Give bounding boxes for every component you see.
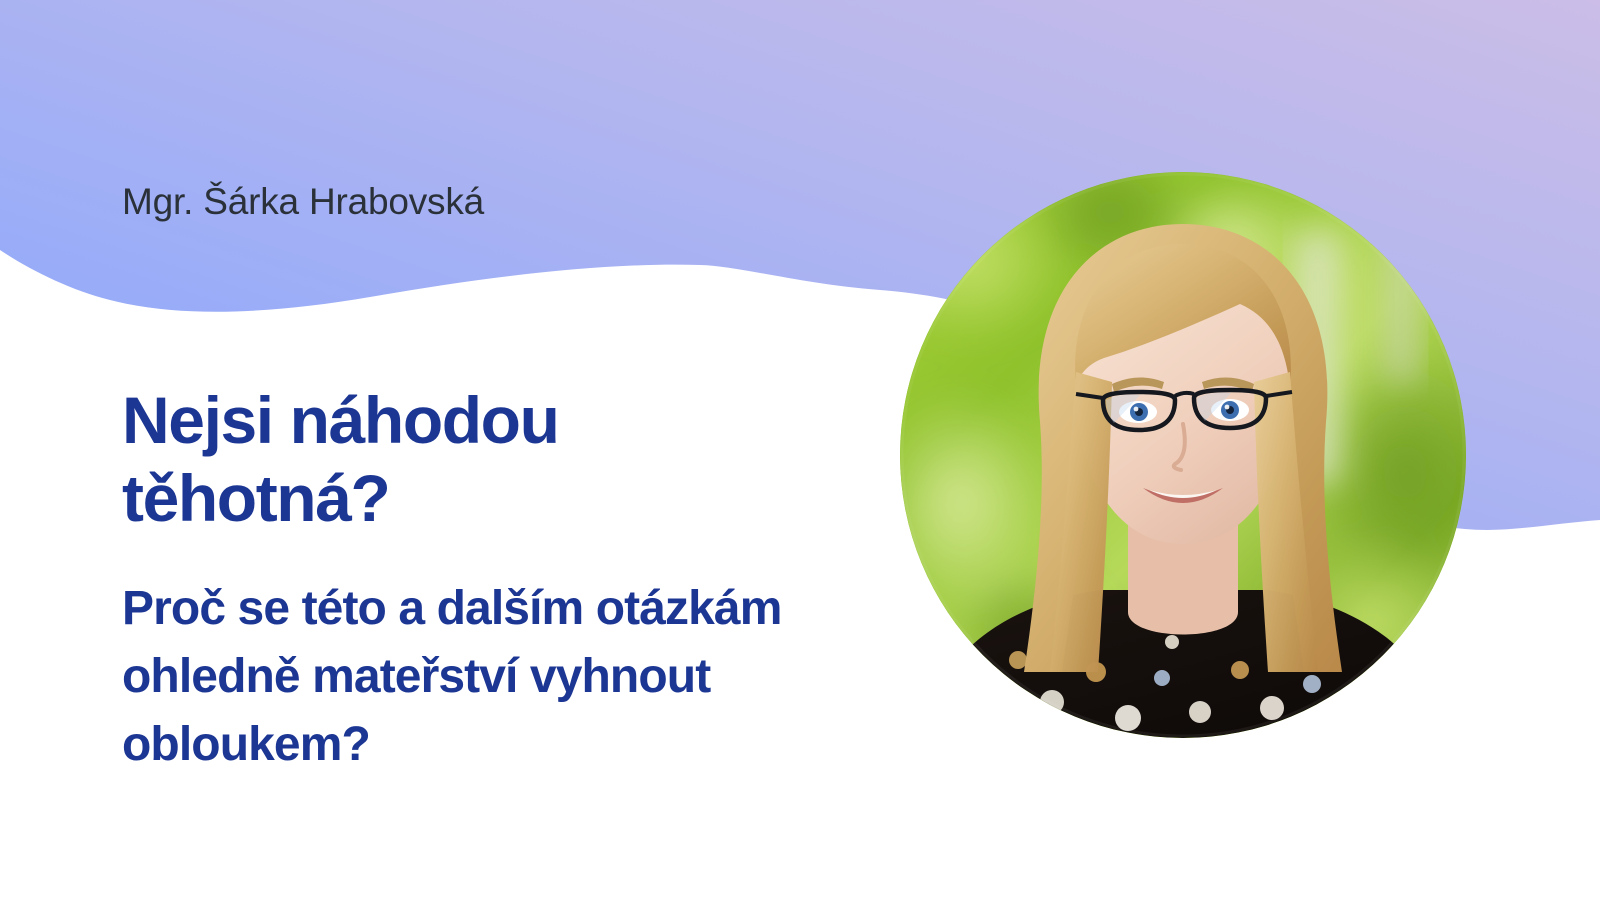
page-title: Nejsi náhodou těhotná?	[122, 382, 762, 538]
portrait-photo	[900, 172, 1466, 738]
author-portrait	[900, 172, 1466, 738]
author-name: Mgr. Šárka Hrabovská	[122, 182, 484, 223]
presentation-slide: Mgr. Šárka Hrabovská Nejsi náhodou těhot…	[0, 0, 1600, 900]
text-content: Mgr. Šárka Hrabovská Nejsi náhodou těhot…	[122, 0, 922, 900]
page-subtitle: Proč se této a dalším otázkám ohledně ma…	[122, 575, 912, 779]
